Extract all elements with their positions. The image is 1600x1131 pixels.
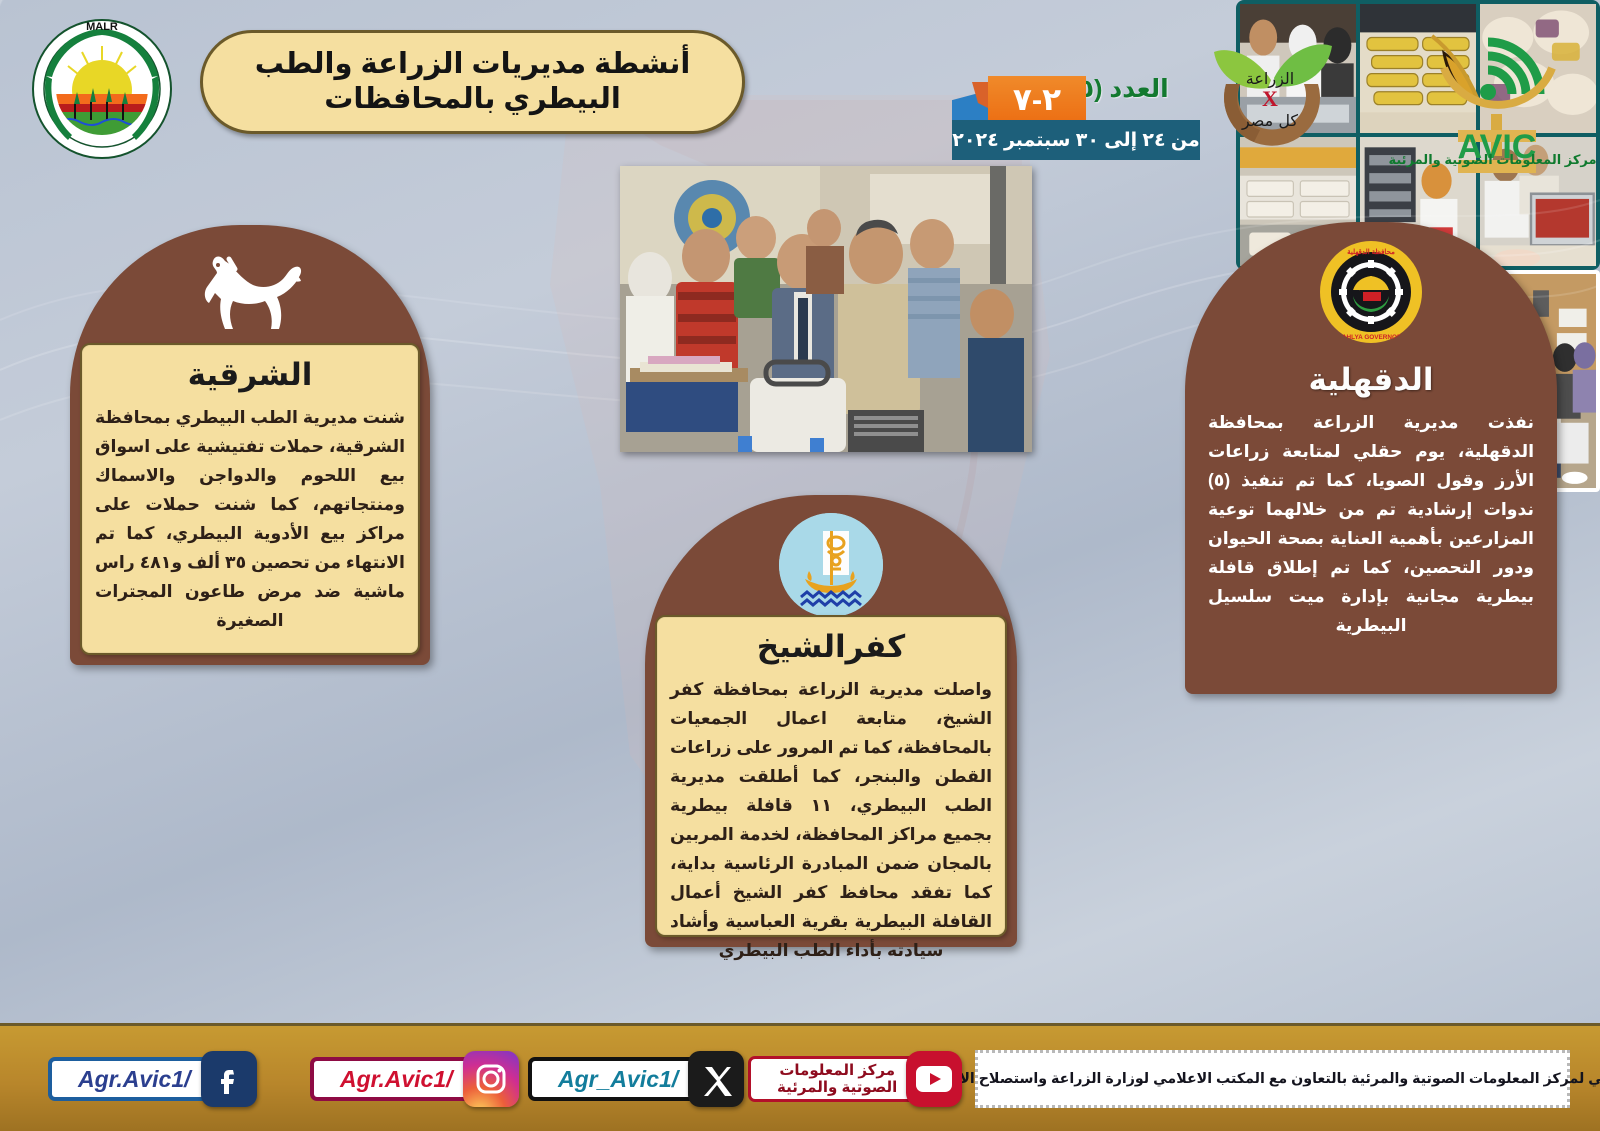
main-photo: [620, 166, 1032, 452]
dakahlia-seal-icon: محافظة الدقهلية DAKAHLYA GOVERNORATE: [1319, 240, 1423, 344]
card-dakahlia: محافظة الدقهلية DAKAHLYA GOVERNORATE الد…: [1185, 222, 1557, 694]
youtube-handle[interactable]: مركز المعلوماتالصوتية والمرئية: [748, 1056, 918, 1102]
social-x[interactable]: /Agr_Avic1: [528, 1048, 744, 1110]
avic-caption: مركز المعلومات الصوتية والمرئية: [1385, 152, 1600, 168]
sharqia-emblem: [70, 243, 430, 335]
svg-text:كل مصر: كل مصر: [1241, 111, 1298, 131]
dakahlia-body: نفذت مديرية الزراعة بمحافظة الدقهلية، يو…: [1208, 408, 1534, 640]
social-instagram[interactable]: /Agr.Avic1: [310, 1048, 519, 1110]
sharqia-body: شنت مديرية الطب البيطري بمحافظة الشرقية،…: [95, 403, 405, 635]
boat-waves-icon: [779, 513, 883, 617]
svg-text:محافظة الدقهلية: محافظة الدقهلية: [1347, 248, 1395, 256]
zeraa-kol-masr-logo: الزراعة X كل مصر: [1196, 14, 1346, 160]
facebook-icon[interactable]: [201, 1051, 257, 1107]
sharqia-title: الشرقية: [95, 357, 405, 393]
date-range-text: من ٢٤ إلى ٣٠ سبتمبر ٢٠٢٤: [952, 129, 1199, 152]
instagram-icon[interactable]: [463, 1051, 519, 1107]
rearing-horse-icon: [191, 243, 309, 335]
kafr-elsheikh-content: كفرالشيخ واصلت مديرية الزراعة بمحافظة كف…: [655, 615, 1007, 937]
svg-text:X: X: [1262, 86, 1278, 111]
card-kafr-elsheikh: كفرالشيخ واصلت مديرية الزراعة بمحافظة كف…: [645, 495, 1017, 947]
kafr-elsheikh-body: واصلت مديرية الزراعة بمحافظة كفر الشيخ، …: [670, 675, 992, 965]
issue-number-badge: ٢-٧: [988, 76, 1086, 124]
kafr-elsheikh-emblem: [645, 513, 1017, 617]
footer-bar: /Agr.Avic1 /Agr.Avic1 /Agr_Avic1: [0, 1023, 1600, 1131]
dakahlia-emblem: محافظة الدقهلية DAKAHLYA GOVERNORATE: [1185, 240, 1557, 344]
facebook-handle[interactable]: /Agr.Avic1: [48, 1057, 213, 1101]
x-twitter-icon[interactable]: [688, 1051, 744, 1107]
social-facebook[interactable]: /Agr.Avic1: [48, 1048, 257, 1110]
main-title-text: أنشطة مديريات الزراعة والطب البيطري بالم…: [203, 47, 742, 117]
kafr-elsheikh-title: كفرالشيخ: [670, 629, 992, 665]
poster-canvas: MALR أنشطة مديريات الزراعة والطب البيطري…: [0, 0, 1600, 1131]
svg-text:MALR: MALR: [86, 21, 118, 33]
dakahlia-content: الدقهلية نفذت مديرية الزراعة بمحافظة الد…: [1195, 350, 1547, 684]
youtube-icon[interactable]: [906, 1051, 962, 1107]
footer-note-text: اصدار اسبوعي لمركز المعلومات الصوتية وال…: [855, 1071, 1600, 1087]
svg-text:DAKAHLYA GOVERNORATE: DAKAHLYA GOVERNORATE: [1328, 334, 1415, 341]
card-sharqia: الشرقية شنت مديرية الطب البيطري بمحافظة …: [70, 225, 430, 665]
issue-number-text: ٢-٧: [1013, 82, 1061, 118]
instagram-handle[interactable]: /Agr.Avic1: [310, 1057, 475, 1101]
dakahlia-title: الدقهلية: [1208, 362, 1534, 398]
sharqia-content: الشرقية شنت مديرية الطب البيطري بمحافظة …: [80, 343, 420, 655]
footer-note: اصدار اسبوعي لمركز المعلومات الصوتية وال…: [975, 1050, 1570, 1108]
date-range-banner: من ٢٤ إلى ٣٠ سبتمبر ٢٠٢٤: [952, 120, 1200, 160]
social-youtube[interactable]: مركز المعلوماتالصوتية والمرئية: [748, 1048, 962, 1110]
x-handle[interactable]: /Agr_Avic1: [528, 1057, 700, 1101]
malr-logo: MALR: [28, 16, 176, 162]
main-title-banner: أنشطة مديريات الزراعة والطب البيطري بالم…: [200, 30, 745, 134]
